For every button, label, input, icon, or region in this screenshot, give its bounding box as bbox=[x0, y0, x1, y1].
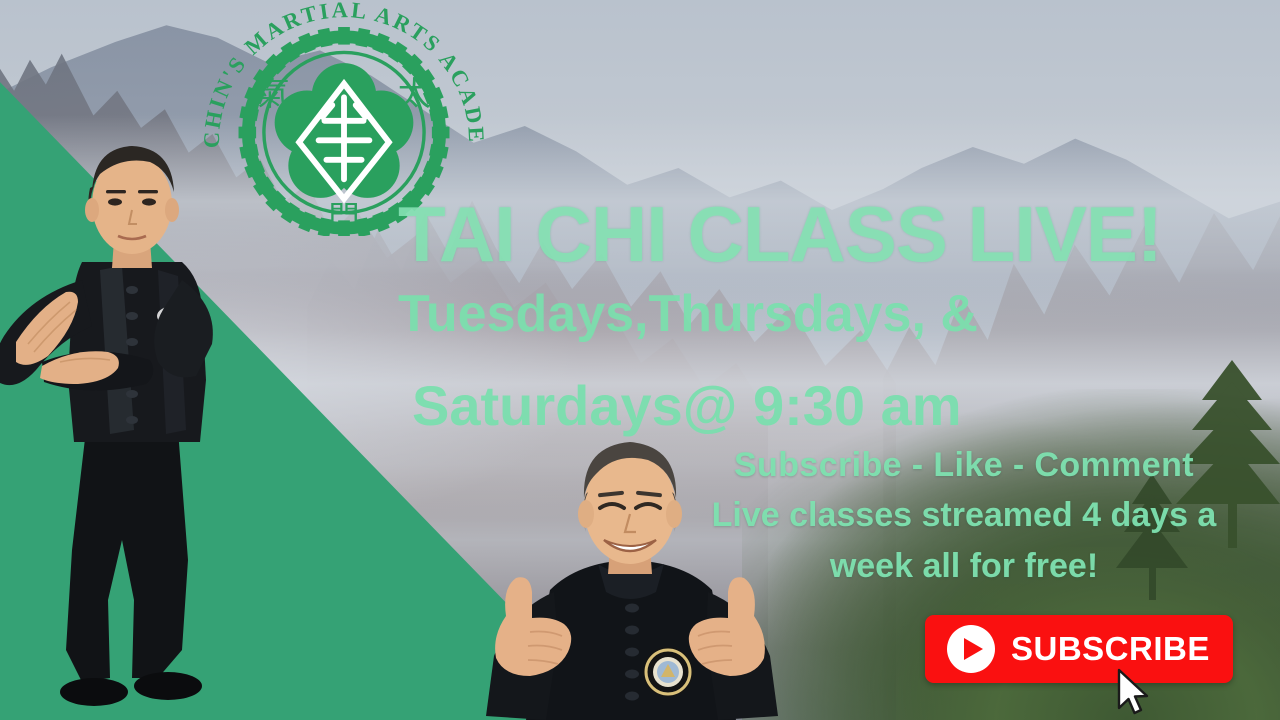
schedule-line-1: Tuesdays,Thursdays, & bbox=[398, 288, 1278, 340]
instructor-thumbs-up bbox=[430, 440, 830, 720]
mouse-pointer bbox=[1116, 668, 1150, 716]
logo-char-left: 氣 bbox=[257, 74, 290, 113]
logo-char-bottom: 門 bbox=[328, 200, 359, 236]
subscribe-button-label: SUBSCRIBE bbox=[1011, 630, 1210, 668]
logo-char-right: 太 bbox=[398, 74, 431, 113]
page-title: TAI CHI CLASS LIVE! bbox=[398, 199, 1278, 271]
video-thumbnail: CALVIN CHIN'S MARTIAL ARTS ACADEMY, INC. bbox=[0, 0, 1280, 720]
tai-chi-instructor-pose bbox=[0, 130, 252, 720]
subscribe-button[interactable]: SUBSCRIBE bbox=[925, 615, 1233, 683]
schedule-line-2: Saturdays@ 9:30 am bbox=[412, 378, 1280, 434]
youtube-play-icon bbox=[947, 625, 995, 673]
